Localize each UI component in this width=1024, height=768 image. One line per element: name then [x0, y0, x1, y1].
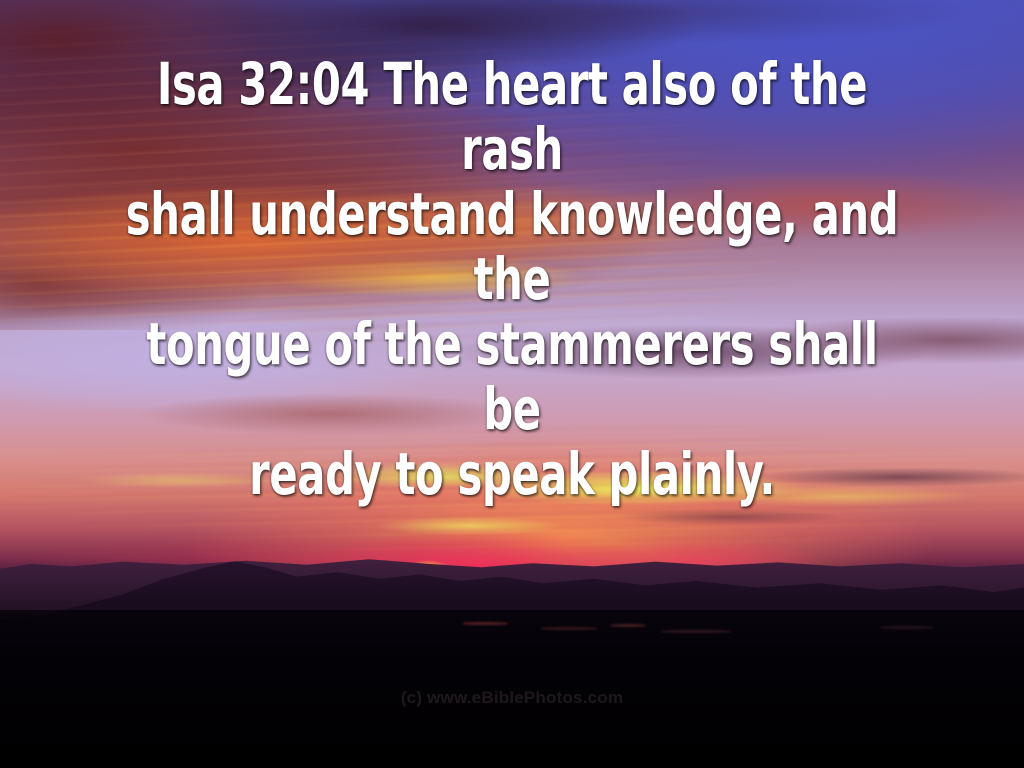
distant-city-light	[462, 622, 508, 625]
distant-ridge-silhouette	[0, 540, 1024, 620]
distant-city-light	[540, 627, 598, 630]
verse-text: Isa 32:04 The heart also of the rash sha…	[123, 52, 901, 507]
crimson-horizon-core	[0, 495, 1024, 585]
distant-city-light	[880, 626, 934, 629]
distant-city-light	[660, 630, 732, 633]
verse-overlay: Isa 32:04 The heart also of the rash sha…	[0, 52, 1024, 507]
sunset-scripture-image: Isa 32:04 The heart also of the rash sha…	[0, 0, 1024, 768]
mountain-silhouette	[0, 548, 1024, 768]
setting-sun-icon	[404, 560, 452, 580]
watermark-credit: (c) www.eBiblePhotos.com	[0, 688, 1024, 708]
distant-city-light	[610, 624, 646, 627]
